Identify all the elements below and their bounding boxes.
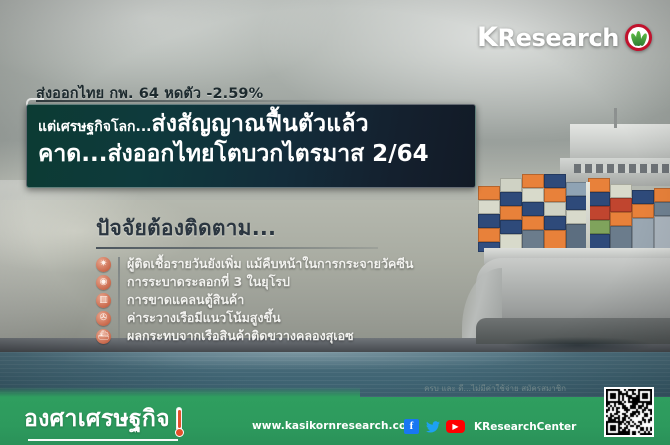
shipping-container (588, 178, 610, 192)
headline-line-1: แต่เศรษฐกิจโลก...ส่งสัญญาณฟื้นตัวแล้ว (38, 110, 468, 138)
shipping-container (478, 186, 500, 200)
background-sea-glint (0, 352, 670, 392)
credit-note: ครบ และ ดี...ไม่มีค่าใช้จ่าย สมัครสมาชิก (424, 382, 566, 395)
footer-bar: องศาเศรษฐกิจ www.kasikornresearch.com f … (0, 397, 670, 445)
footer-fade (0, 387, 360, 397)
shipping-container (632, 218, 654, 252)
factor-item: ◉การระบาดระลอกที่ 3 ในยุโรป (96, 273, 496, 291)
shipping-container (500, 206, 522, 220)
shipping-container (610, 198, 632, 212)
factor-item-label: การขาดแคลนตู้สินค้า (127, 290, 244, 310)
shipping-container (522, 188, 544, 202)
kresearch-logo[interactable]: KResearch (477, 22, 652, 53)
shipping-container (654, 202, 670, 216)
shipping-container (522, 202, 544, 216)
website-url[interactable]: www.kasikornresearch.com (252, 420, 417, 432)
ship-shadow (476, 334, 670, 356)
virus-icon: ✷ (96, 257, 111, 272)
factor-item: ▥การขาดแคลนตู้สินค้า (96, 291, 496, 309)
youtube-icon[interactable]: ▶ (446, 420, 465, 433)
shipping-container (654, 188, 670, 202)
social-links: f ▶ KResearchCenter (404, 419, 576, 434)
facebook-icon[interactable]: f (404, 419, 419, 434)
headline-emphasis: ส่งสัญญาณฟื้นตัวแล้ว (151, 111, 368, 137)
factor-item-label: การระบาดระลอกที่ 3 ในยุโรป (127, 272, 290, 292)
factors-title: ปัจจัยต้องติดตาม... (96, 212, 496, 245)
shipping-container (632, 190, 654, 204)
qr-code[interactable] (604, 387, 654, 437)
program-brand-text: องศาเศรษฐกิจ (24, 401, 170, 437)
kresearch-logo-text: KResearch (477, 22, 619, 53)
thermometer-icon (174, 407, 185, 437)
factor-item-label: ค่าระวางเรือมีแนวโน้มสูงขึ้น (127, 308, 281, 328)
shipping-container (566, 210, 588, 224)
shipping-container (544, 216, 566, 230)
shipping-container (500, 220, 522, 234)
factor-item: ✷ผู้ติดเชื้อรายวันยังเพิ่ม แม้คืบหน้าในก… (96, 255, 496, 273)
shipping-container (610, 184, 632, 198)
shipping-container (500, 192, 522, 206)
headline-line-2: คาด...ส่งออกไทยโตบวกไตรมาส 2/64 (38, 140, 468, 168)
shipping-container (566, 196, 588, 210)
factors-underline (96, 247, 378, 249)
headline-lead-in: แต่เศรษฐกิจโลก... (38, 119, 151, 135)
kresearch-logo-word: Research (498, 24, 619, 52)
shipping-container (500, 178, 522, 192)
factors-list: ✷ผู้ติดเชื้อรายวันยังเพิ่ม แม้คืบหน้าในก… (96, 255, 496, 345)
shipping-container (588, 206, 610, 220)
factors-block: ปัจจัยต้องติดตาม... ✷ผู้ติดเชื้อรายวันยั… (96, 212, 496, 345)
map-pin-icon: ◉ (96, 275, 111, 290)
freight-cost-icon: ✇ (96, 311, 111, 326)
shipping-container (544, 174, 566, 188)
kresearch-logo-k: K (477, 22, 498, 53)
factor-item-label: ผลกระทบจากเรือสินค้าติดขวางคลองสุเอซ (127, 326, 354, 346)
shipping-container (544, 188, 566, 202)
container-stack (478, 164, 670, 250)
leaf-glyph (632, 30, 646, 46)
kicker-underline (36, 100, 336, 102)
program-brand-underline (28, 439, 178, 441)
shipping-container (588, 220, 610, 234)
shipping-container (588, 192, 610, 206)
social-channel-name: KResearchCenter (474, 421, 576, 433)
factor-item: ⛴ผลกระทบจากเรือสินค้าติดขวางคลองสุเอซ (96, 327, 496, 345)
headline-text: แต่เศรษฐกิจโลก...ส่งสัญญาณฟื้นตัวแล้ว คา… (38, 110, 468, 168)
twitter-icon[interactable] (425, 419, 440, 434)
cargo-ship-icon: ⛴ (96, 329, 111, 344)
shipping-container (522, 174, 544, 188)
program-brand: องศาเศรษฐกิจ (24, 401, 185, 437)
ship-mast (614, 108, 617, 128)
shipping-container (632, 204, 654, 218)
shipping-container (610, 212, 632, 226)
shipping-container (566, 182, 588, 196)
factor-item-label: ผู้ติดเชื้อรายวันยังเพิ่ม แม้คืบหน้าในกา… (127, 254, 413, 274)
factor-item: ✇ค่าระวางเรือมีแนวโน้มสูงขึ้น (96, 309, 496, 327)
kasikorn-leaf-mark-icon (625, 24, 652, 51)
shipping-container (522, 216, 544, 230)
container-box-icon: ▥ (96, 293, 111, 308)
shipping-container (654, 216, 670, 252)
shipping-container (544, 202, 566, 216)
infographic-canvas: KResearch ส่งออกไทย กพ. 64 หดตัว -2.59% … (0, 0, 670, 445)
